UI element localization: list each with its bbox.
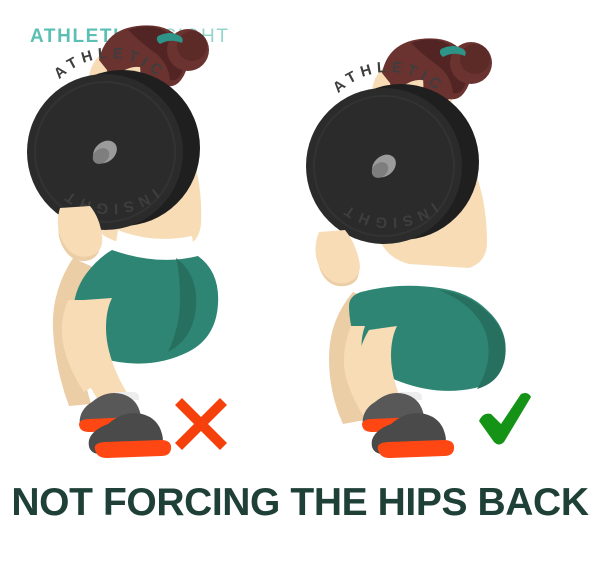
- near-arm: [315, 230, 359, 284]
- hair-bun-inner: [460, 44, 490, 74]
- infographic-canvas: ATHLETICINSIGHT: [0, 0, 600, 566]
- page-title: NOT FORCING THE HIPS BACK: [0, 483, 600, 524]
- check-glyph: [479, 393, 531, 445]
- cross-glyph: [175, 398, 227, 450]
- hair-bun-inner: [177, 31, 207, 61]
- cross-mark-icon: [170, 393, 232, 455]
- shoe-front-sole: [95, 440, 171, 458]
- shoe-front-sole: [378, 440, 454, 458]
- check-mark-icon: [474, 388, 536, 450]
- squat-figure-incorrect: ATHLETIC INSIGHT: [0, 0, 300, 470]
